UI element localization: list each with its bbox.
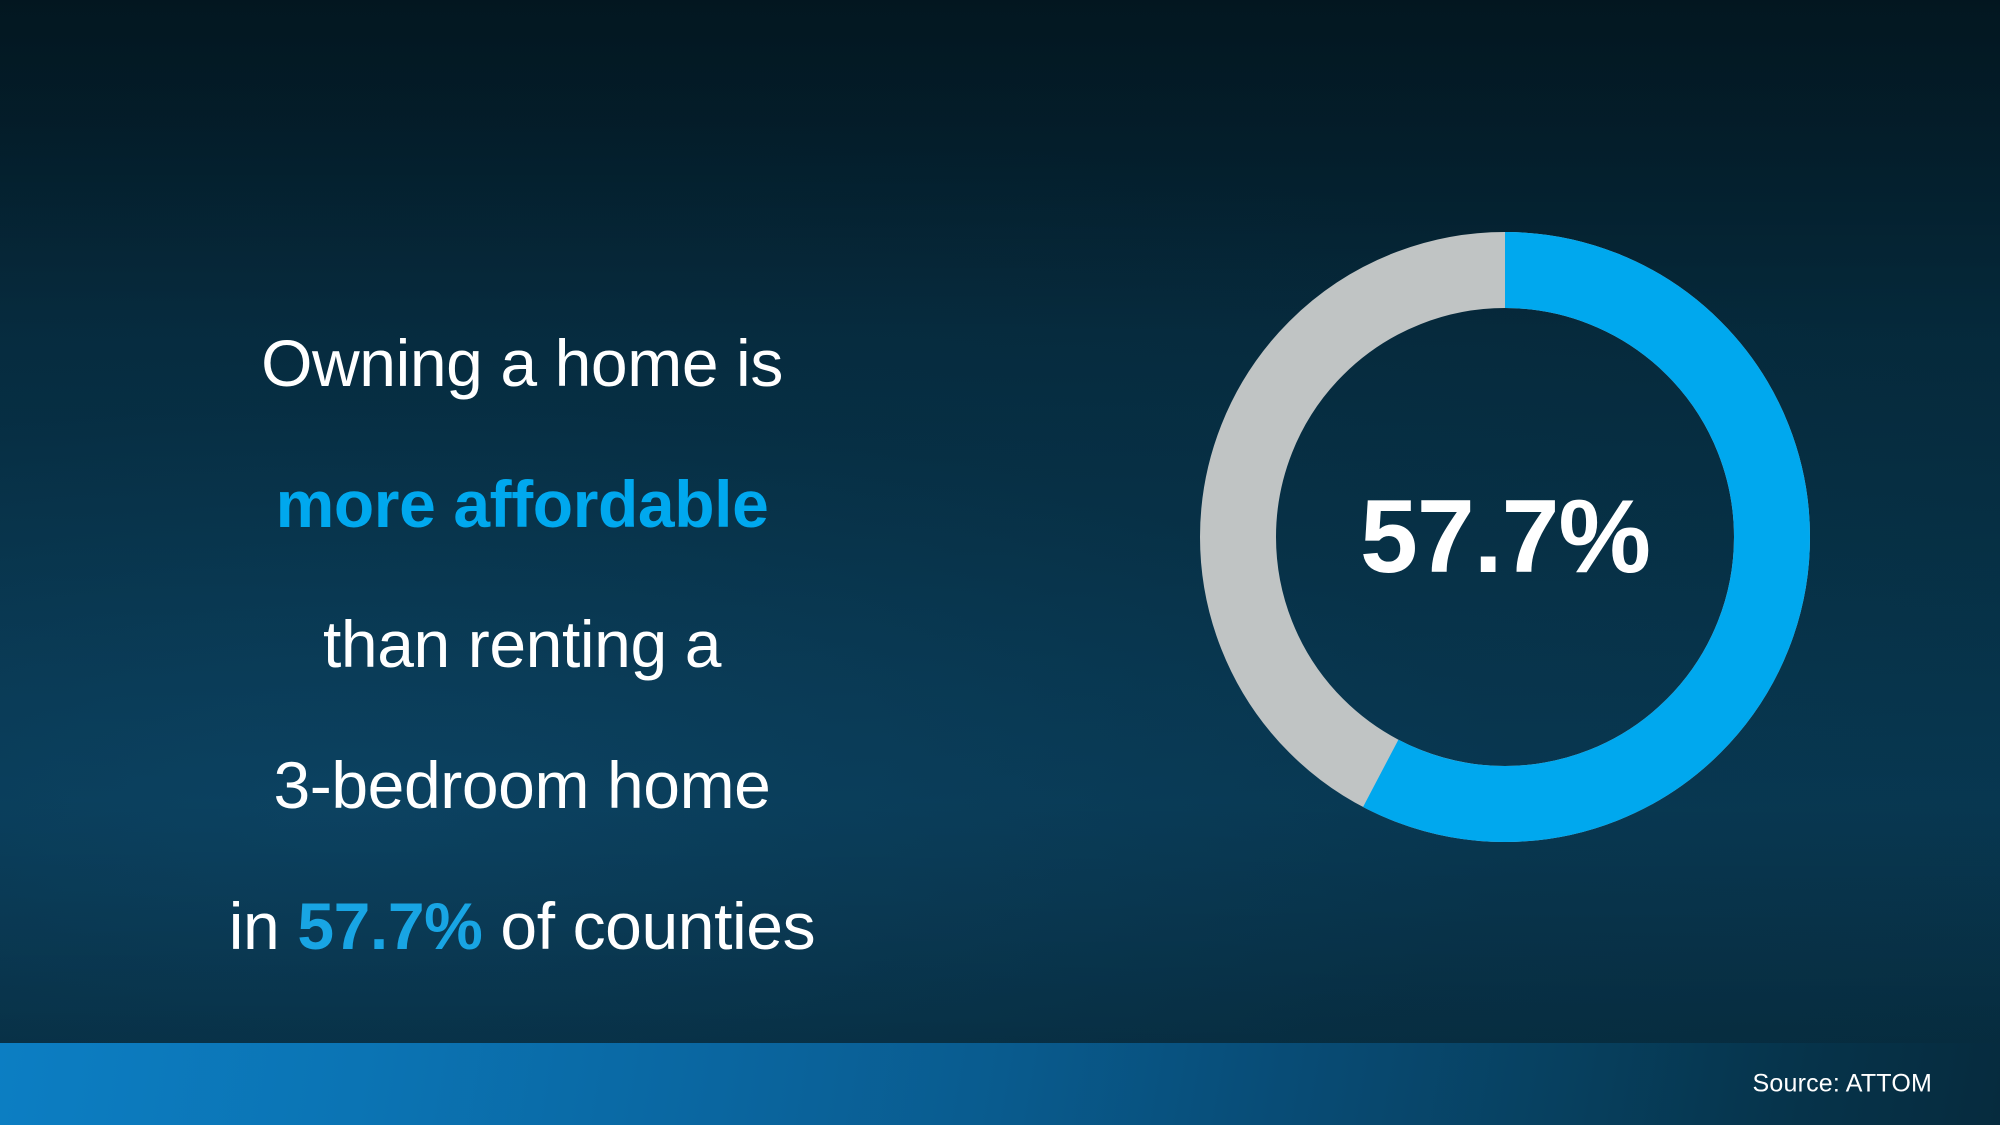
headline-block: Owning a home is more affordable than re… [132, 258, 912, 1031]
headline-line-5: in 57.7% of counties [132, 891, 912, 961]
headline-line-5-percent: 57.7% [297, 889, 482, 963]
headline-line-5-suffix: of counties [482, 889, 815, 963]
headline-line-2-accent: more affordable [132, 469, 912, 539]
headline-line-1: Owning a home is [132, 328, 912, 398]
headline-line-4: 3-bedroom home [132, 750, 912, 820]
source-attribution: Source: ATTOM [1752, 1070, 1932, 1099]
headline-text: Owning a home is more affordable than re… [132, 258, 912, 1031]
donut-chart: 57.7% [1196, 228, 1814, 846]
donut-chart-svg [1196, 228, 1814, 846]
headline-line-5-prefix: in [229, 889, 298, 963]
footer-bar: Source: ATTOM [0, 1043, 2000, 1125]
headline-line-3: than renting a [132, 609, 912, 679]
infographic-canvas: Owning a home is more affordable than re… [0, 0, 2000, 1125]
